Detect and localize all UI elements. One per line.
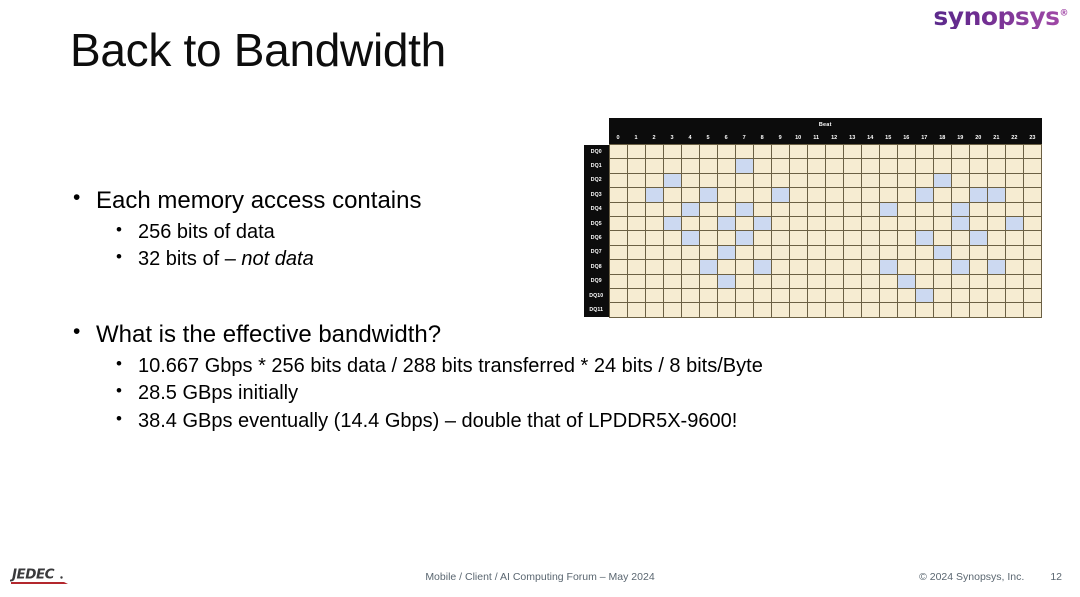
dq-cell	[627, 202, 645, 216]
dq-cell	[951, 188, 969, 202]
dq-cell	[825, 231, 843, 245]
beat-column-header: 0	[609, 131, 627, 145]
table-row: DQ4	[584, 202, 1042, 216]
dq-cell	[681, 274, 699, 288]
table-row: DQ3	[584, 188, 1042, 202]
dq-cell	[897, 216, 915, 230]
dq-cell	[969, 173, 987, 187]
dq-cell	[771, 288, 789, 302]
dq-cell-highlighted	[753, 260, 771, 274]
dq-cell	[951, 274, 969, 288]
dq-cell	[987, 159, 1005, 173]
dq-cell	[987, 274, 1005, 288]
dq-cell	[861, 245, 879, 259]
registered-mark-icon: ®	[1060, 9, 1069, 19]
dq-cell	[753, 303, 771, 317]
dq-cell	[609, 245, 627, 259]
dq-cell	[933, 288, 951, 302]
dq-cell	[843, 303, 861, 317]
copyright-text: © 2024 Synopsys, Inc.	[919, 571, 1024, 583]
dq-cell	[717, 260, 735, 274]
dq-cell	[915, 260, 933, 274]
dq-cell	[681, 145, 699, 159]
dq-cell	[987, 288, 1005, 302]
dq-cell-highlighted	[681, 231, 699, 245]
dq-cell	[753, 173, 771, 187]
dq-cell	[645, 245, 663, 259]
dq-cell	[933, 231, 951, 245]
dq-cell	[915, 274, 933, 288]
dq-cell	[843, 188, 861, 202]
bullet-level2: 10.667 Gbps * 256 bits data / 288 bits t…	[66, 353, 886, 381]
dq-cell	[933, 188, 951, 202]
dq-cell	[753, 288, 771, 302]
dq-row-label: DQ4	[584, 202, 609, 216]
dq-cell	[681, 288, 699, 302]
dq-cell	[843, 216, 861, 230]
dq-cell	[825, 274, 843, 288]
dq-cell-highlighted	[951, 216, 969, 230]
beat-column-header: 4	[681, 131, 699, 145]
dq-cell	[663, 288, 681, 302]
dq-cell	[933, 216, 951, 230]
beat-column-header: 18	[933, 131, 951, 145]
dq-cell	[1005, 274, 1023, 288]
dq-cell	[897, 202, 915, 216]
dq-cell	[627, 216, 645, 230]
bullet-level2-emphasis: not data	[241, 248, 313, 270]
dq-cell	[1005, 202, 1023, 216]
dq-cell-highlighted	[969, 231, 987, 245]
table-row: DQ5	[584, 216, 1042, 230]
dq-cell	[807, 303, 825, 317]
dq-cell	[717, 173, 735, 187]
dq-cell	[645, 202, 663, 216]
dq-cell	[807, 188, 825, 202]
dq-cell	[735, 188, 753, 202]
dq-cell	[717, 202, 735, 216]
dq-cell	[951, 145, 969, 159]
dq-cell	[1023, 303, 1041, 317]
dq-cell	[699, 274, 717, 288]
dq-cell	[897, 288, 915, 302]
dq-cell	[915, 245, 933, 259]
dq-row-label: DQ2	[584, 173, 609, 187]
dq-cell-highlighted	[879, 260, 897, 274]
dq-cell	[861, 303, 879, 317]
dq-cell-highlighted	[951, 260, 969, 274]
dq-cell	[1023, 188, 1041, 202]
dq-cell	[825, 173, 843, 187]
dq-cell	[789, 173, 807, 187]
dq-cell	[861, 274, 879, 288]
dq-cell	[627, 145, 645, 159]
dq-cell	[825, 260, 843, 274]
dq-cell	[663, 260, 681, 274]
dq-cell	[843, 260, 861, 274]
slide-canvas: synopsys® Back to Bandwidth Each memory …	[0, 0, 1080, 597]
dq-cell	[663, 231, 681, 245]
dq-cell	[789, 260, 807, 274]
dq-cell	[897, 145, 915, 159]
dq-cell	[627, 173, 645, 187]
dq-cell	[645, 231, 663, 245]
dq-cell	[951, 159, 969, 173]
dq-cell	[879, 159, 897, 173]
dq-cell-highlighted	[987, 188, 1005, 202]
table-row: DQ8	[584, 260, 1042, 274]
beat-column-header: 20	[969, 131, 987, 145]
dq-cell	[807, 202, 825, 216]
dq-cell	[753, 188, 771, 202]
dq-cell	[861, 173, 879, 187]
dq-cell	[807, 159, 825, 173]
synopsys-logo-text: synopsys	[933, 2, 1059, 31]
dq-cell	[933, 260, 951, 274]
dq-cell	[699, 173, 717, 187]
dq-cell	[969, 202, 987, 216]
dq-cell	[879, 145, 897, 159]
dq-cell	[861, 216, 879, 230]
dq-cell	[627, 245, 645, 259]
dq-cell	[681, 173, 699, 187]
dq-cell	[879, 173, 897, 187]
dq-cell	[861, 145, 879, 159]
dq-cell-highlighted	[663, 216, 681, 230]
dq-cell	[969, 303, 987, 317]
dq-cell	[861, 159, 879, 173]
dq-cell	[1023, 245, 1041, 259]
beat-column-header: 11	[807, 131, 825, 145]
beat-column-header: 8	[753, 131, 771, 145]
dq-cell	[1023, 231, 1041, 245]
dq-cell	[969, 245, 987, 259]
dq-cell	[987, 145, 1005, 159]
dq-cell	[717, 145, 735, 159]
beat-column-header: 22	[1005, 131, 1023, 145]
dq-cell	[789, 159, 807, 173]
dq-cell	[969, 216, 987, 230]
dq-cell	[645, 145, 663, 159]
dq-cell	[735, 173, 753, 187]
bullet-level2-text: 256 bits of data	[138, 221, 275, 243]
dq-cell	[933, 303, 951, 317]
dq-cell	[1005, 188, 1023, 202]
dq-cell	[933, 202, 951, 216]
beat-column-header: 1	[627, 131, 645, 145]
dq-cell	[807, 145, 825, 159]
dq-cell-highlighted	[681, 202, 699, 216]
dq-cell	[645, 274, 663, 288]
dq-cell	[681, 303, 699, 317]
dq-cell	[807, 274, 825, 288]
dq-cell	[789, 274, 807, 288]
dq-cell-highlighted	[717, 274, 735, 288]
dq-cell	[933, 145, 951, 159]
dq-cell	[735, 274, 753, 288]
dq-cell	[915, 159, 933, 173]
dq-cell	[951, 245, 969, 259]
dq-cell	[717, 159, 735, 173]
dq-cell	[627, 159, 645, 173]
dq-cell	[987, 216, 1005, 230]
dq-cell-highlighted	[897, 274, 915, 288]
dq-cell	[879, 188, 897, 202]
beat-column-header: 15	[879, 131, 897, 145]
bullet-level2-text: 32 bits of –	[138, 248, 241, 270]
footer-right: © 2024 Synopsys, Inc. 12	[919, 571, 1062, 583]
dq-cell	[609, 303, 627, 317]
beat-column-header: 17	[915, 131, 933, 145]
dq-cell	[627, 303, 645, 317]
dq-cell	[735, 245, 753, 259]
dq-row-label: DQ10	[584, 288, 609, 302]
dq-cell	[861, 202, 879, 216]
dq-row-label: DQ1	[584, 159, 609, 173]
dq-cell-highlighted	[969, 188, 987, 202]
dq-cell	[771, 231, 789, 245]
dq-cell	[861, 231, 879, 245]
dq-cell	[681, 260, 699, 274]
dq-cell-highlighted	[735, 231, 753, 245]
dq-row-label: DQ0	[584, 145, 609, 159]
dq-cell	[1023, 202, 1041, 216]
table-row: DQ0	[584, 145, 1042, 159]
dq-cell	[771, 274, 789, 288]
page-title: Back to Bandwidth	[70, 25, 446, 76]
dq-cell	[771, 245, 789, 259]
table-row: DQ11	[584, 303, 1042, 317]
dq-cell	[951, 173, 969, 187]
page-number: 12	[1050, 571, 1062, 583]
dq-cell	[969, 159, 987, 173]
dq-cell	[843, 288, 861, 302]
beat-column-header: 19	[951, 131, 969, 145]
dq-cell	[681, 216, 699, 230]
dq-cell	[969, 288, 987, 302]
dq-cell	[717, 231, 735, 245]
dq-cell	[915, 216, 933, 230]
dq-cell	[789, 245, 807, 259]
dq-cell	[807, 245, 825, 259]
dq-row-label: DQ3	[584, 188, 609, 202]
dq-cell	[1023, 159, 1041, 173]
synopsys-logo: synopsys®	[933, 4, 1068, 29]
dq-cell-highlighted	[753, 216, 771, 230]
dq-cell	[645, 159, 663, 173]
dq-cell	[753, 245, 771, 259]
beat-column-header: 9	[771, 131, 789, 145]
bullet-level1-text: Each memory access contains	[96, 187, 421, 214]
dq-cell	[843, 274, 861, 288]
dq-cell	[915, 303, 933, 317]
dq-cell	[771, 303, 789, 317]
dq-cell	[753, 274, 771, 288]
dq-cell	[951, 231, 969, 245]
dq-cell	[771, 145, 789, 159]
dq-cell-highlighted	[699, 188, 717, 202]
dq-cell	[825, 245, 843, 259]
dq-cell-highlighted	[915, 231, 933, 245]
dq-cell	[699, 303, 717, 317]
dq-cell	[753, 202, 771, 216]
dq-cell	[627, 260, 645, 274]
dq-cell	[861, 288, 879, 302]
dq-row-label: DQ5	[584, 216, 609, 230]
dq-cell	[1023, 288, 1041, 302]
dq-cell	[1005, 173, 1023, 187]
dq-cell	[699, 145, 717, 159]
dq-cell	[861, 188, 879, 202]
dq-cell	[771, 216, 789, 230]
table-row: DQ7	[584, 245, 1042, 259]
dq-cell	[825, 202, 843, 216]
dq-cell	[1023, 173, 1041, 187]
dq-cell-highlighted	[879, 202, 897, 216]
bullet-level2: 28.5 GBps initially	[66, 380, 886, 408]
dq-cell	[987, 245, 1005, 259]
dq-cell	[969, 145, 987, 159]
dq-cell	[879, 216, 897, 230]
dq-cell	[1005, 288, 1023, 302]
dq-cell	[897, 245, 915, 259]
dq-cell	[699, 159, 717, 173]
dq-cell	[1023, 260, 1041, 274]
dq-cell	[771, 202, 789, 216]
dq-cell	[1005, 245, 1023, 259]
dq-cell	[897, 159, 915, 173]
dq-cell	[609, 288, 627, 302]
dq-cell	[843, 145, 861, 159]
dq-cell	[933, 274, 951, 288]
dq-cell	[645, 303, 663, 317]
dq-cell	[789, 303, 807, 317]
dq-cell	[717, 288, 735, 302]
bullet-level1-text: What is the effective bandwidth?	[96, 321, 441, 348]
dq-cell-highlighted	[987, 260, 1005, 274]
dq-cell	[1023, 145, 1041, 159]
dq-cell	[663, 245, 681, 259]
dq-cell	[897, 260, 915, 274]
dq-cell	[843, 173, 861, 187]
beat-header-label: Beat	[609, 118, 1042, 131]
dq-cell	[807, 260, 825, 274]
dq-cell	[933, 159, 951, 173]
dq-cell	[663, 159, 681, 173]
dq-cell	[879, 231, 897, 245]
dq-beat-table: Beat012345678910111213141516171819202122…	[584, 118, 1042, 318]
dq-cell	[915, 145, 933, 159]
dq-cell	[699, 202, 717, 216]
dq-cell	[681, 188, 699, 202]
dq-cell	[663, 274, 681, 288]
dq-cell	[627, 288, 645, 302]
dq-cell	[699, 216, 717, 230]
dq-cell	[609, 216, 627, 230]
dq-row-label: DQ8	[584, 260, 609, 274]
beat-column-header: 10	[789, 131, 807, 145]
dq-cell	[627, 188, 645, 202]
dq-cell	[789, 231, 807, 245]
dq-cell-highlighted	[951, 202, 969, 216]
table-corner-blank	[584, 131, 609, 145]
dq-cell	[879, 303, 897, 317]
dq-cell	[879, 245, 897, 259]
dq-cell	[825, 145, 843, 159]
dq-cell	[987, 173, 1005, 187]
dq-cell	[663, 202, 681, 216]
dq-cell	[897, 303, 915, 317]
dq-cell	[699, 288, 717, 302]
dq-cell	[879, 274, 897, 288]
dq-cell	[717, 188, 735, 202]
dq-cell	[735, 145, 753, 159]
dq-row-label: DQ9	[584, 274, 609, 288]
table-row: DQ6	[584, 231, 1042, 245]
dq-cell-highlighted	[717, 245, 735, 259]
beat-column-header: 16	[897, 131, 915, 145]
beat-column-header: 3	[663, 131, 681, 145]
dq-row-label: DQ7	[584, 245, 609, 259]
beat-column-header: 2	[645, 131, 663, 145]
bullet-level2: 38.4 GBps eventually (14.4 Gbps) – doubl…	[66, 408, 886, 436]
dq-cell	[789, 202, 807, 216]
table-header-row-title: Beat	[584, 118, 1042, 131]
dq-cell	[735, 216, 753, 230]
table-corner-blank	[584, 118, 609, 131]
dq-cell-highlighted	[915, 188, 933, 202]
dq-cell-highlighted	[933, 173, 951, 187]
dq-cell	[1005, 231, 1023, 245]
beat-column-header: 12	[825, 131, 843, 145]
dq-cell	[789, 288, 807, 302]
table-row: DQ2	[584, 173, 1042, 187]
dq-cell	[609, 188, 627, 202]
dq-cell	[609, 260, 627, 274]
dq-cell	[807, 216, 825, 230]
dq-cell	[609, 173, 627, 187]
dq-cell	[969, 260, 987, 274]
beat-column-header: 14	[861, 131, 879, 145]
dq-row-label: DQ11	[584, 303, 609, 317]
dq-cell-highlighted	[735, 202, 753, 216]
dq-cell	[753, 159, 771, 173]
dq-cell	[825, 159, 843, 173]
dq-cell	[1023, 216, 1041, 230]
dq-cell	[789, 188, 807, 202]
footer-center-text: Mobile / Client / AI Computing Forum – M…	[0, 571, 1080, 583]
dq-cell	[609, 231, 627, 245]
dq-cell	[735, 288, 753, 302]
beat-column-header: 13	[843, 131, 861, 145]
dq-cell	[987, 231, 1005, 245]
dq-cell	[843, 202, 861, 216]
dq-cell	[699, 231, 717, 245]
dq-cell-highlighted	[645, 188, 663, 202]
dq-cell	[645, 216, 663, 230]
dq-cell-highlighted	[735, 159, 753, 173]
table-header-row-numbers: 01234567891011121314151617181920212223	[584, 131, 1042, 145]
dq-cell	[987, 202, 1005, 216]
dq-cell	[699, 245, 717, 259]
table-row: DQ10	[584, 288, 1042, 302]
dq-cell	[681, 245, 699, 259]
dq-cell	[897, 188, 915, 202]
dq-cell	[807, 173, 825, 187]
dq-cell	[807, 288, 825, 302]
dq-cell	[753, 145, 771, 159]
dq-cell	[771, 173, 789, 187]
